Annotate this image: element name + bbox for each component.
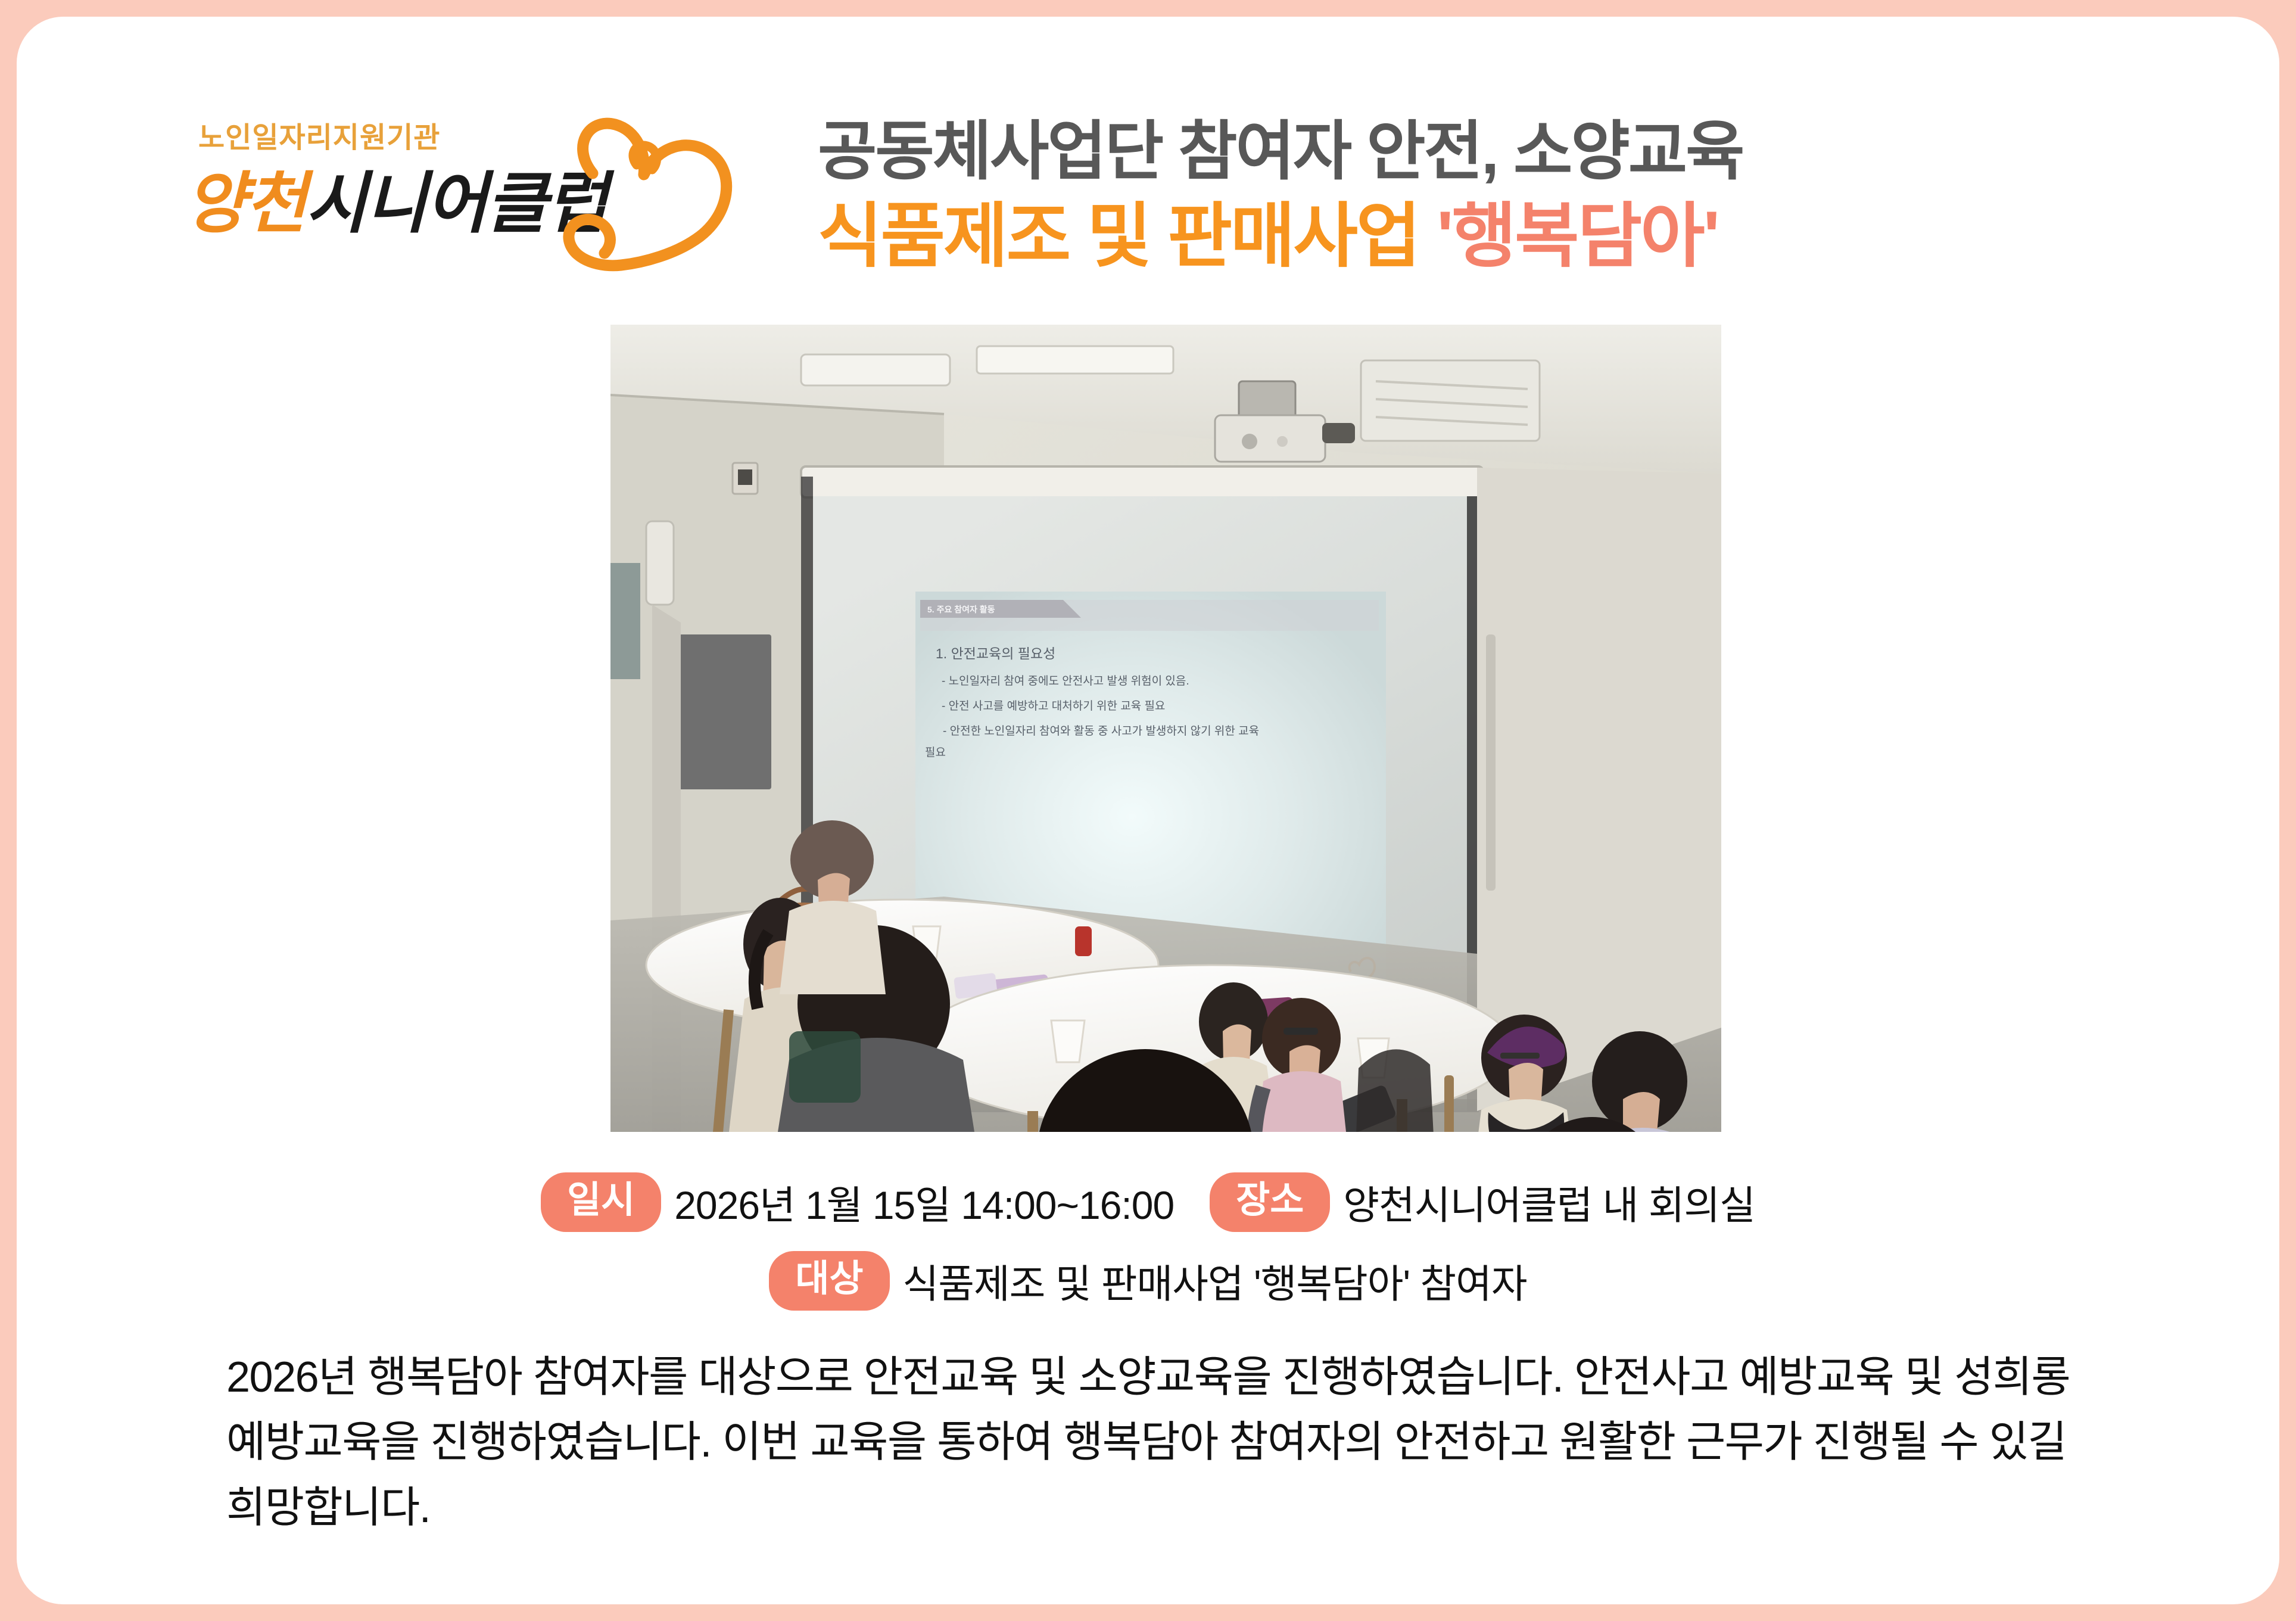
title-line-2-program: 식품제조 및 판매사업	[818, 197, 1419, 276]
title-line-2-brand: '행복담아'	[1437, 197, 1718, 276]
info-row-datetime-place: 일시 2026년 1월 15일 14:00~16:00 장소 양천시니어클럽 내…	[17, 1172, 2279, 1232]
poster-card: 노인일자리지원기관 양천시니어클럽 공동체사업단 참여자 안전, 소양교육 식품…	[17, 17, 2279, 1604]
svg-text:5. 주요 참여자 활동: 5. 주요 참여자 활동	[927, 605, 995, 614]
title-line-2: 식품제조 및 판매사업 '행복담아'	[818, 194, 2232, 280]
event-photo: 5. 주요 참여자 활동 1. 안전교육의 필요성 - 노인일자리 참여 중에도…	[610, 325, 1721, 1132]
info-place-value: 양천시니어클럽 내 회의실	[1343, 1174, 1755, 1231]
title-line-1: 공동체사업단 참여자 안전, 소양교육	[818, 112, 2232, 191]
poster-header: 노인일자리지원기관 양천시니어클럽 공동체사업단 참여자 안전, 소양교육 식품…	[17, 17, 2279, 303]
svg-text:- 노인일자리 참여 중에도 안전사고 발생 위험이 있음.: - 노인일자리 참여 중에도 안전사고 발생 위험이 있음.	[942, 674, 1189, 687]
logo-wordmark-orange: 양천	[185, 166, 306, 241]
body-paragraph: 2026년 행복담아 참여자를 대상으로 안전교육 및 소양교육을 진행하였습니…	[226, 1345, 2102, 1541]
svg-text:- 안전 사고를 예방하고 대처하기 위한 교육 필요: - 안전 사고를 예방하고 대처하기 위한 교육 필요	[942, 699, 1165, 713]
badge-date-label: 일시	[541, 1172, 661, 1232]
info-row-target: 대상 식품제조 및 판매사업 '행복담아' 참여자	[17, 1251, 2279, 1311]
badge-target-label: 대상	[769, 1251, 889, 1311]
svg-text:- 안전한 노인일자리 참여와 활동 중 사고가 발생하지: - 안전한 노인일자리 참여와 활동 중 사고가 발생하지 않기 위한 교육	[943, 724, 1259, 738]
badge-place-label: 장소	[1210, 1172, 1330, 1232]
poster-root: 노인일자리지원기관 양천시니어클럽 공동체사업단 참여자 안전, 소양교육 식품…	[0, 0, 2296, 1621]
page-title: 공동체사업단 참여자 안전, 소양교육 식품제조 및 판매사업 '행복담아'	[818, 112, 2232, 280]
svg-text:필요: 필요	[925, 746, 946, 759]
svg-text:1. 안전교육의 필요성: 1. 안전교육의 필요성	[936, 646, 1055, 661]
info-date-value: 2026년 1월 15일 14:00~16:00	[674, 1174, 1174, 1231]
organization-logo: 노인일자리지원기관 양천시니어클럽	[169, 103, 794, 282]
heart-ribbon-icon	[538, 103, 734, 282]
info-target-value: 식품제조 및 판매사업 '행복담아' 참여자	[903, 1252, 1527, 1309]
